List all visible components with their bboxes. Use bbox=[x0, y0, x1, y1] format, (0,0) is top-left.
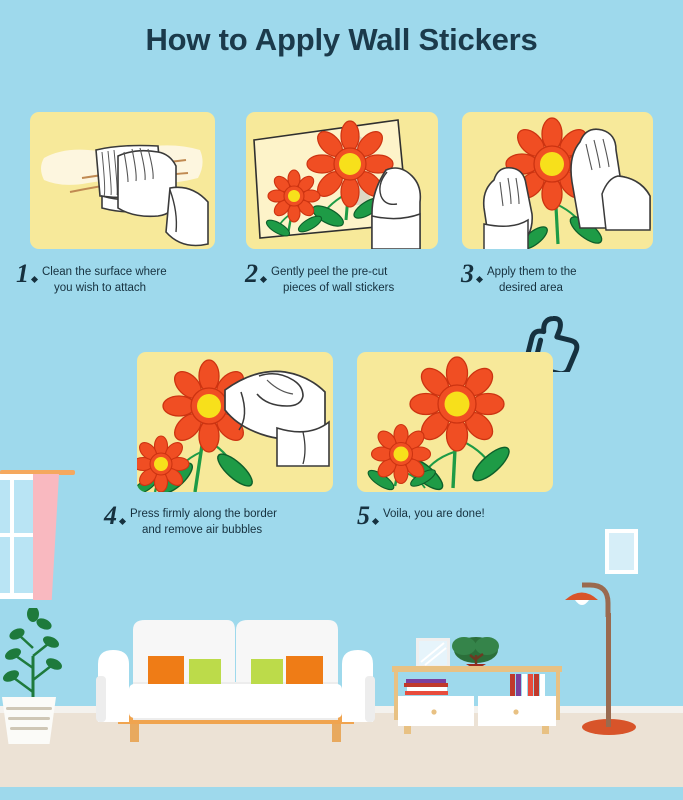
step-4-caption: 4 Press firmly along the border and remo… bbox=[104, 503, 354, 538]
step-2-number: 2 bbox=[245, 261, 258, 287]
step-5-number-dot bbox=[372, 518, 379, 525]
page-title: How to Apply Wall Stickers bbox=[0, 22, 683, 58]
floor-lamp bbox=[565, 575, 660, 738]
pressing-cloth-on-sticker-icon bbox=[137, 352, 333, 492]
pot-stripe bbox=[10, 727, 48, 730]
step-2-illustration bbox=[246, 112, 438, 249]
pot-stripe bbox=[8, 717, 50, 720]
hand-wiping-wall-icon bbox=[30, 112, 215, 249]
step-1-text: Clean the surface where you wish to atta… bbox=[42, 261, 167, 296]
step-1-number: 1 bbox=[16, 261, 29, 287]
step-1-number-dot bbox=[31, 276, 38, 283]
step-4-number: 4 bbox=[104, 503, 117, 529]
step-3-number-dot bbox=[476, 276, 483, 283]
infographic-page: How to Apply Wall Stickers bbox=[0, 0, 683, 800]
bottom-strip bbox=[0, 787, 683, 800]
two-hands-applying-sticker-icon bbox=[462, 112, 653, 249]
step-5-caption: 5 Voila, you are done! bbox=[357, 503, 587, 529]
pot-stripe bbox=[6, 707, 52, 710]
step-4-number-dot bbox=[119, 518, 126, 525]
step-4-illustration bbox=[137, 352, 333, 492]
step-2-text: Gently peel the pre-cut pieces of wall s… bbox=[271, 261, 394, 296]
step-5-illustration bbox=[357, 352, 553, 492]
finished-stickers-icon bbox=[357, 352, 553, 492]
peeling-sticker-sheet-icon bbox=[246, 112, 438, 249]
wall-picture-frame bbox=[605, 529, 638, 574]
step-3-illustration bbox=[462, 112, 653, 249]
wall-picture-frame-inner bbox=[609, 533, 634, 570]
step-2-number-dot bbox=[260, 276, 267, 283]
step-5-text: Voila, you are done! bbox=[383, 503, 485, 523]
step-4-text: Press firmly along the border and remove… bbox=[130, 503, 277, 538]
step-1-illustration bbox=[30, 112, 215, 249]
step-2-caption: 2 Gently peel the pre-cut pieces of wall… bbox=[245, 261, 460, 296]
step-5-number: 5 bbox=[357, 503, 370, 529]
step-3-number: 3 bbox=[461, 261, 474, 287]
console-table bbox=[392, 624, 562, 736]
step-3-text: Apply them to the desired area bbox=[487, 261, 577, 296]
step-3-caption: 3 Apply them to the desired area bbox=[461, 261, 661, 296]
step-1-caption: 1 Clean the surface where you wish to at… bbox=[16, 261, 231, 296]
plant-pot bbox=[2, 697, 56, 744]
white-sofa bbox=[88, 612, 383, 750]
